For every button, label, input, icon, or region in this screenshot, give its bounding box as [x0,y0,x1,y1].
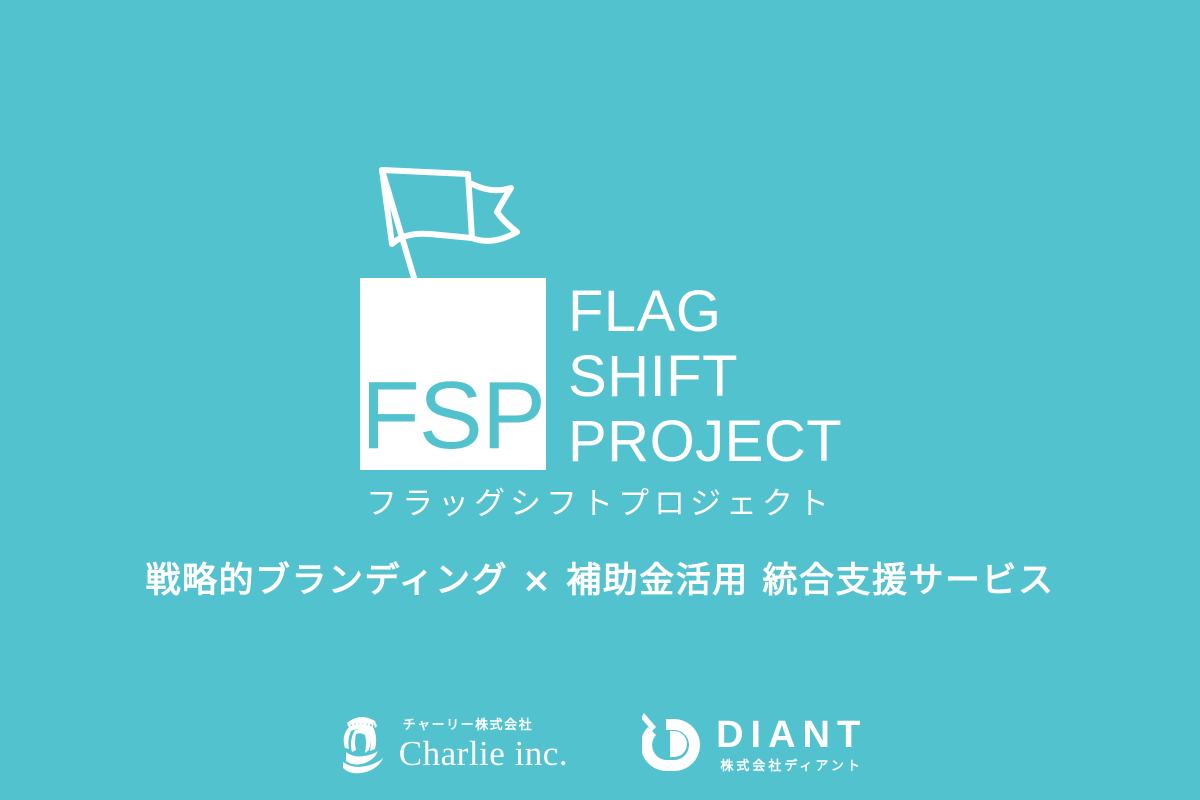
partner-logo-charlie: チャーリー株式会社 Charlie inc. [333,710,568,780]
logo-wordmark: FLAG SHIFT PROJECT [568,280,842,475]
charlie-text-block: チャーリー株式会社 Charlie inc. [399,719,568,770]
spartan-helmet-icon [333,710,389,780]
charlie-name: Charlie inc. [399,736,568,771]
logo-mark-row: FSP FLAG SHIFT PROJECT [360,160,842,475]
tagline: 戦略的ブランディング × 補助金活用 統合支援サービス [0,552,1200,603]
flag-icon [368,160,533,290]
fsp-square: FSP [360,278,546,470]
diant-text-block: DIANT 株式会社ディアント [716,716,867,774]
wordmark-line-project: PROJECT [568,410,842,475]
wordmark-line-shift: SHIFT [568,345,842,410]
logo-lockup: FSP FLAG SHIFT PROJECT [0,160,1200,480]
diant-name: DIANT [716,716,867,754]
wordmark-line-flag: FLAG [568,280,842,345]
fsp-monogram: FSP [360,368,546,464]
diant-kana: 株式会社ディアント [720,760,863,774]
poster-canvas: FSP FLAG SHIFT PROJECT フラッグシフトプロジェクト 戦略的… [0,0,1200,800]
logo-kana-reading: フラッグシフトプロジェクト [0,478,1200,523]
charlie-kana: チャーリー株式会社 [403,719,533,733]
partner-logo-diant: DIANT 株式会社ディアント [642,713,867,777]
diant-d-mark-icon [642,713,704,777]
fsp-mark: FSP [360,160,546,472]
partner-logos: チャーリー株式会社 Charlie inc. DIANT 株式会社ディアント [0,700,1200,790]
